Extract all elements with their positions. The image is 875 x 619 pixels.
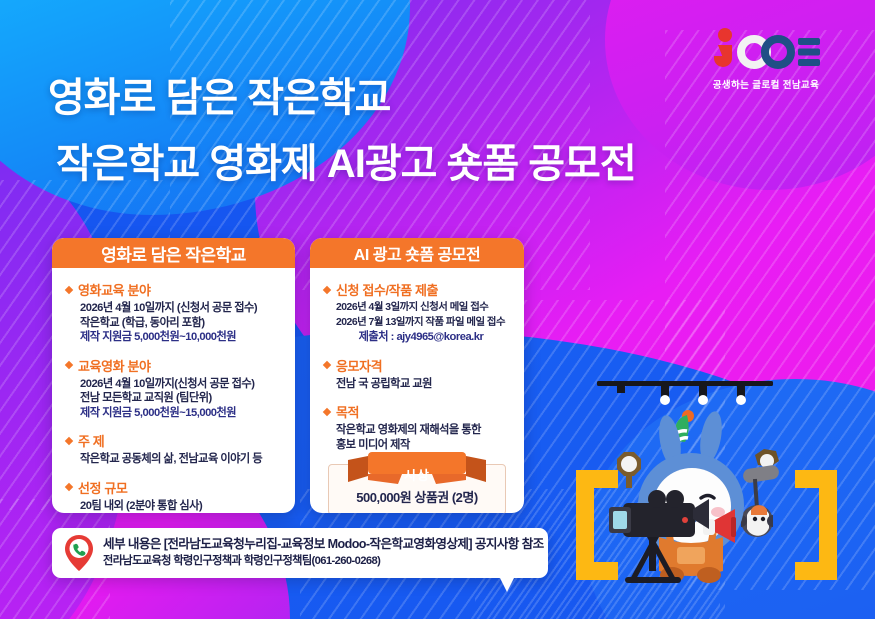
title-line-2: 작은학교 영화제 AI광고 숏폼 공모전: [56, 138, 636, 190]
section-line: 2026년 4월 10일까지 (신청서 공문 접수): [80, 301, 283, 316]
section-title-text: 영화교육 분야: [78, 280, 151, 299]
section-lines: 20팀 내외 (2분야 통합 심사): [66, 499, 283, 514]
banner-line-2: 전라남도교육청 학령인구정책과 학령인구정책팀(061-260-0268): [103, 554, 544, 569]
film-education-card: 영화로 담은 작은학교 영화교육 분야 2026년 4월 10일까지 (신청서 …: [52, 238, 295, 513]
mascot-scene-illustration: [551, 369, 871, 619]
diamond-bullet-icon: [65, 361, 73, 369]
diamond-bullet-icon: [323, 285, 331, 293]
award-ribbon-label: 시상: [404, 465, 430, 484]
section-title-text: 응모자격: [336, 356, 382, 375]
studio-light-icon: [617, 452, 641, 488]
section-line: 20팀 내외 (2분야 통합 심사): [80, 499, 283, 514]
section-lines: 2026년 4월 10일까지(신청서 공문 접수) 전남 모든학교 교직원 (팀…: [66, 377, 283, 421]
section-title-row: 영화교육 분야: [66, 280, 283, 299]
diamond-bullet-icon: [65, 285, 73, 293]
section-title-text: 신청 접수/작품 제출: [336, 280, 438, 299]
section-lines: 작은학교 영화제의 재해석을 통한 홍보 미디어 제작: [324, 423, 512, 452]
jeonnam-education-logo: 공생하는 글로컬 전남교육: [681, 26, 851, 91]
section-title-row: 목적: [324, 402, 512, 421]
jooe-logo-icon: [702, 27, 830, 71]
section-line: 전남 국 공립학교 교원: [336, 377, 512, 392]
section-line-email: 제출처 : ajy4965@korea.kr: [336, 330, 512, 345]
diamond-bullet-icon: [323, 361, 331, 369]
card-left-body: 영화교육 분야 2026년 4월 10일까지 (신청서 공문 접수) 작은학교 …: [52, 268, 295, 513]
poster-title: 영화로 담은 작은학교 작은학교 영화제 AI광고 숏폼 공모전: [48, 72, 636, 190]
diamond-bullet-icon: [65, 436, 73, 444]
card-left-header: 영화로 담은 작은학교: [52, 238, 295, 268]
section-purpose: 목적 작은학교 영화제의 재해석을 통한 홍보 미디어 제작: [324, 402, 512, 452]
boom-microphone-icon: [741, 449, 780, 537]
section-title-row: 신청 접수/작품 제출: [324, 280, 512, 299]
section-title-row: 주 제: [66, 431, 283, 450]
section-lines: 작은학교 공동체의 삶, 전남교육 이야기 등: [66, 452, 283, 467]
card-right-header: AI 광고 숏폼 공모전: [310, 238, 524, 268]
card-right-body: 신청 접수/작품 제출 2026년 4월 3일까지 신청서 메일 접수 2026…: [310, 268, 524, 513]
info-banner: 세부 내용은 [전라남도교육청누리집-교육정보 Modoo-작은학교영화영상제]…: [52, 528, 548, 578]
mascot-scene: [551, 369, 871, 619]
section-title-text: 주 제: [78, 431, 104, 450]
section-line-amount: 제작 지원금 5,000천원~15,000천원: [80, 406, 283, 421]
banner-text-block: 세부 내용은 [전라남도교육청누리집-교육정보 Modoo-작은학교영화영상제]…: [103, 536, 544, 569]
section-title-text: 교육영화 분야: [78, 356, 151, 375]
phone-location-pin-icon: [64, 534, 94, 572]
logo-wordmark-icon: [681, 26, 851, 72]
section-line: 2026년 7월 13일까지 작품 파일 메일 접수: [336, 316, 512, 331]
section-title-row: 응모자격: [324, 356, 512, 375]
title-line-1: 영화로 담은 작은학교: [48, 72, 636, 124]
logo-tagline: 공생하는 글로컬 전남교육: [681, 77, 851, 91]
poster-canvas: 공생하는 글로컬 전남교육 영화로 담은 작은학교 작은학교 영화제 AI광고 …: [0, 0, 875, 619]
section-application-submission: 신청 접수/작품 제출 2026년 4월 3일까지 신청서 메일 접수 2026…: [324, 280, 512, 345]
section-title-row: 선정 규모: [66, 478, 283, 497]
section-line: 2026년 4월 10일까지(신청서 공문 접수): [80, 377, 283, 392]
section-line: 작은학교 공동체의 삶, 전남교육 이야기 등: [80, 452, 283, 467]
section-lines: 2026년 4월 10일까지 (신청서 공문 접수) 작은학교 (학급, 동아리…: [66, 301, 283, 345]
section-line: 전남 모든학교 교직원 (팀단위): [80, 391, 283, 406]
section-title-row: 교육영화 분야: [66, 356, 283, 375]
section-selection-scale: 선정 규모 20팀 내외 (2분야 통합 심사): [66, 478, 283, 514]
section-line: 작은학교 (학급, 동아리 포함): [80, 316, 283, 331]
section-education-film: 교육영화 분야 2026년 4월 10일까지(신청서 공문 접수) 전남 모든학…: [66, 356, 283, 421]
section-title-text: 선정 규모: [78, 478, 127, 497]
section-eligibility: 응모자격 전남 국 공립학교 교원: [324, 356, 512, 392]
award-block: 시상 500,000원 상품권 (2명): [328, 464, 506, 513]
section-line: 2026년 4월 3일까지 신청서 메일 접수: [336, 301, 512, 316]
section-lines: 2026년 4월 3일까지 신청서 메일 접수 2026년 7월 13일까지 작…: [324, 301, 512, 345]
ai-ad-shortform-card: AI 광고 숏폼 공모전 신청 접수/작품 제출 2026년 4월 3일까지 신…: [310, 238, 524, 513]
section-lines: 전남 국 공립학교 교원: [324, 377, 512, 392]
section-theme: 주 제 작은학교 공동체의 삶, 전남교육 이야기 등: [66, 431, 283, 467]
diamond-bullet-icon: [323, 407, 331, 415]
section-line: 작은학교 영화제의 재해석을 통한: [336, 423, 512, 438]
section-line-amount: 제작 지원금 5,000천원~10,000천원: [80, 330, 283, 345]
banner-speech-tail: [498, 574, 516, 592]
banner-line-1: 세부 내용은 [전라남도교육청누리집-교육정보 Modoo-작은학교영화영상제]…: [103, 536, 544, 553]
award-amount: 500,000원 상품권 (2명): [335, 487, 499, 506]
diamond-bullet-icon: [65, 483, 73, 491]
section-title-text: 목적: [336, 402, 359, 421]
section-line: 홍보 미디어 제작: [336, 438, 512, 453]
section-film-education: 영화교육 분야 2026년 4월 10일까지 (신청서 공문 접수) 작은학교 …: [66, 280, 283, 345]
ceiling-light-rig-icon: [597, 381, 773, 405]
